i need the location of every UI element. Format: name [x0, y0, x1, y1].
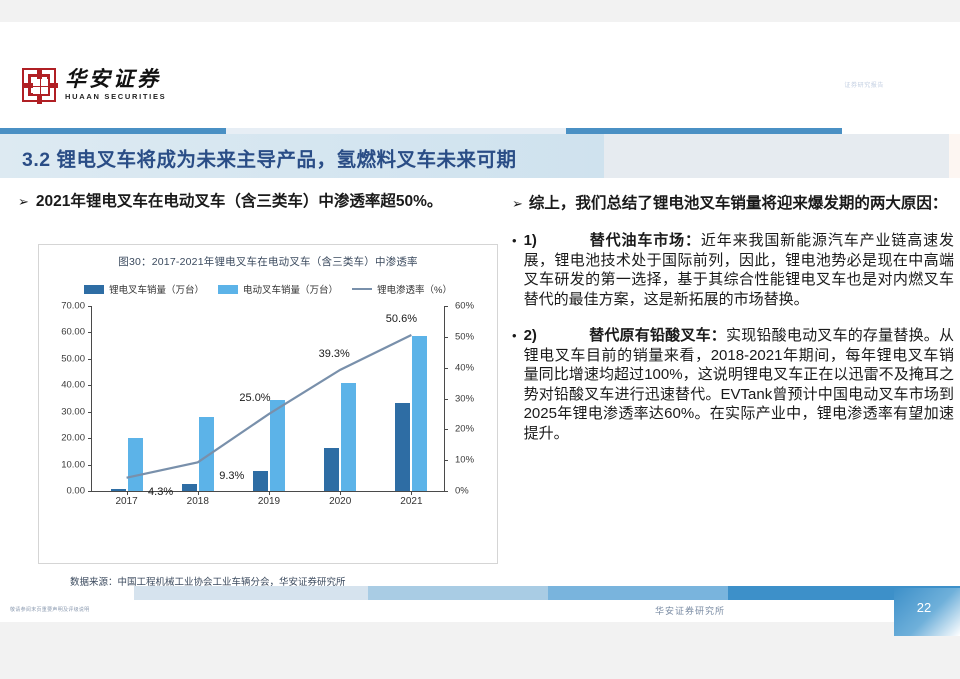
y-axis-left: 0.0010.0020.0030.0040.0050.0060.0070.00: [47, 306, 89, 491]
left-column: ➢ 2021年锂电叉车在电动叉车（含三类车）中渗透率超50%。 图30：2017…: [18, 192, 508, 213]
y-left-tick: 20.00: [61, 433, 85, 444]
y-left-tick: 30.00: [61, 406, 85, 417]
y-right-tick: 40%: [455, 362, 474, 373]
page-number: 22: [894, 588, 960, 636]
chart-legend: 锂电叉车销量（万台） 电动叉车销量（万台） 锂电渗透率（%）: [39, 282, 497, 296]
x-axis-label: 2021: [400, 496, 422, 507]
x-axis-label: 2017: [115, 496, 137, 507]
y-left-tick: 40.00: [61, 380, 85, 391]
data-label: 25.0%: [239, 392, 270, 404]
y-left-tick: 70.00: [61, 301, 85, 312]
arrow-bullet-icon-right: ➢: [512, 194, 523, 214]
axis-line-bottom: [91, 491, 445, 492]
x-axis-label: 2018: [187, 496, 209, 507]
reason-item-2: • 2)替代原有铅酸叉车：实现铅酸电动叉车的存量替换。从锂电叉车目前的销量来看，…: [512, 326, 954, 443]
arrow-bullet-icon: ➢: [18, 192, 29, 212]
y-left-tick: 60.00: [61, 327, 85, 338]
y-right-tick: 20%: [455, 424, 474, 435]
plot-area: 201720182019202020214.3%9.3%25.0%39.3%50…: [91, 306, 445, 491]
reason-lead-1: 替代油车市场：: [589, 232, 701, 249]
left-heading-text: 2021年锂电叉车在电动叉车（含三类车）中渗透率超50%。: [36, 192, 443, 213]
page-title: 3.2 锂电叉车将成为未来主导产品，氢燃料叉车未来可期: [22, 143, 517, 172]
footer-band-3: [548, 586, 728, 600]
legend-swatch-light-icon: [218, 285, 238, 294]
data-label: 50.6%: [386, 313, 417, 325]
y-left-tick: 0.00: [67, 486, 86, 497]
reason-lead-2: 替代原有铅酸叉车：: [589, 327, 726, 344]
left-heading: ➢ 2021年锂电叉车在电动叉车（含三类车）中渗透率超50%。: [18, 192, 508, 213]
x-axis-label: 2019: [258, 496, 280, 507]
slide-canvas: 华安证券 HUAAN SECURITIES 证券研究报告 3.2 锂电叉车将成为…: [0, 22, 960, 622]
reason-number-2: 2): [524, 327, 537, 344]
figure-caption: 图30：2017-2021年锂电叉车在电动叉车（含三类车）中渗透率: [39, 245, 497, 269]
company-logo: 华安证券 HUAAN SECURITIES: [22, 68, 166, 102]
footer-band-1: [134, 586, 368, 600]
reason-body-2: 2)替代原有铅酸叉车：实现铅酸电动叉车的存量替换。从锂电叉车目前的销量来看，20…: [524, 326, 954, 443]
reason-text-2: 实现铅酸电动叉车的存量替换。从锂电叉车目前的销量来看，2018-2021年期间，…: [524, 327, 954, 442]
footer-disclaimer: 敬请参阅末页重要声明及评级说明: [10, 606, 90, 613]
slide-header: [0, 22, 960, 74]
reason-body-1: 1)替代油车市场：近年来我国新能源汽车产业链高速发展，锂电池技术处于国际前列，因…: [524, 231, 954, 309]
right-heading-text: 综上，我们总结了锂电池叉车销量将迎来爆发期的两大原因：: [529, 194, 948, 214]
right-column: ➢ 综上，我们总结了锂电池叉车销量将迎来爆发期的两大原因： • 1)替代油车市场…: [512, 194, 954, 443]
legend-line-icon: [352, 288, 372, 290]
legend-label-2: 锂电渗透率（%）: [377, 282, 452, 296]
y-right-tick: 10%: [455, 455, 474, 466]
legend-label-0: 锂电叉车销量（万台）: [109, 282, 204, 296]
huaan-logo-mark-icon: [22, 68, 56, 102]
dot-bullet-icon-2: •: [512, 326, 517, 443]
legend-swatch-dark-icon: [84, 285, 104, 294]
data-label: 9.3%: [219, 470, 244, 482]
y-right-tick: 30%: [455, 393, 474, 404]
legend-label-1: 电动叉车销量（万台）: [243, 282, 338, 296]
chart-container: 图30：2017-2021年锂电叉车在电动叉车（含三类车）中渗透率 锂电叉车销量…: [38, 244, 498, 564]
footer-institute: 华安证券研究所: [655, 604, 725, 617]
right-heading: ➢ 综上，我们总结了锂电池叉车销量将迎来爆发期的两大原因：: [512, 194, 954, 214]
y-axis-right: 0%10%20%30%40%50%60%: [447, 306, 489, 491]
data-label: 4.3%: [148, 486, 173, 498]
legend-item-1: 电动叉车销量（万台）: [218, 282, 338, 296]
reason-number-1: 1): [524, 232, 537, 249]
logo-english-name: HUAAN SECURITIES: [65, 93, 166, 101]
slide-title-bar: 3.2 锂电叉车将成为未来主导产品，氢燃料叉车未来可期: [0, 134, 960, 178]
legend-item-0: 锂电叉车销量（万台）: [84, 282, 204, 296]
data-label: 39.3%: [319, 348, 350, 360]
chart-plot: 0.0010.0020.0030.0040.0050.0060.0070.00 …: [47, 306, 489, 506]
y-right-tick: 0%: [455, 486, 469, 497]
y-right-tick: 60%: [455, 301, 474, 312]
y-left-tick: 10.00: [61, 459, 85, 470]
footer-band-2: [368, 586, 548, 600]
y-right-tick: 50%: [455, 331, 474, 342]
y-left-tick: 50.00: [61, 353, 85, 364]
dot-bullet-icon-1: •: [512, 231, 517, 309]
logo-chinese-name: 华安证券: [65, 69, 166, 90]
legend-item-2: 锂电渗透率（%）: [352, 282, 452, 296]
x-axis-label: 2020: [329, 496, 351, 507]
reason-item-1: • 1)替代油车市场：近年来我国新能源汽车产业链高速发展，锂电池技术处于国际前列…: [512, 231, 954, 309]
header-watermark: 证券研究报告: [844, 80, 884, 89]
